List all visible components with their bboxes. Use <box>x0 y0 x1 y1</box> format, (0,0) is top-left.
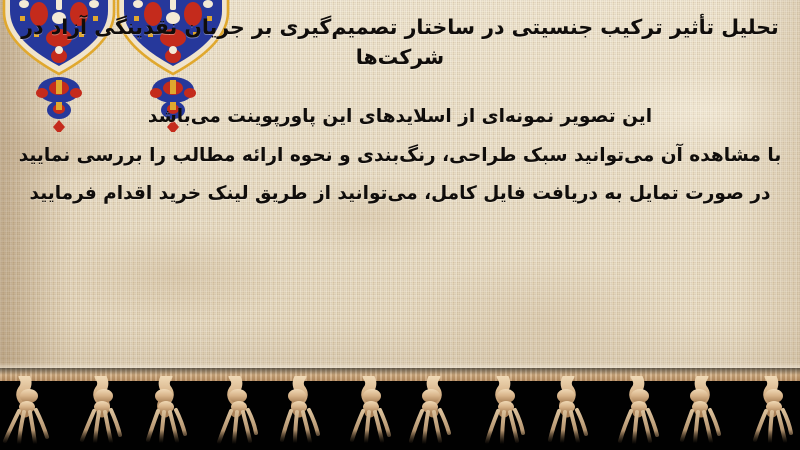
body-line-3: در صورت تمایل به دریافت فایل کامل، می‌تو… <box>18 185 782 204</box>
bottom-fringe-band <box>0 368 800 450</box>
slide-canvas-area: تحلیل تأثیر ترکیب جنسیتی در ساختار تصمیم… <box>0 0 800 372</box>
slide-body: این تصویر نمونه‌ای از اسلایدهای این پاور… <box>0 108 800 204</box>
band-top-shadow <box>0 368 800 375</box>
presentation-slide: تحلیل تأثیر ترکیب جنسیتی در ساختار تصمیم… <box>0 0 800 450</box>
body-line-1: این تصویر نمونه‌ای از اسلایدهای این پاور… <box>18 108 782 127</box>
slide-title: تحلیل تأثیر ترکیب جنسیتی در ساختار تصمیم… <box>0 12 800 73</box>
carpet-fringe-tassels-icon <box>0 376 800 450</box>
body-line-2: با مشاهده آن می‌توانید سبک طراحی، رنگ‌بن… <box>18 147 782 166</box>
slide-text-layer: تحلیل تأثیر ترکیب جنسیتی در ساختار تصمیم… <box>0 0 800 372</box>
